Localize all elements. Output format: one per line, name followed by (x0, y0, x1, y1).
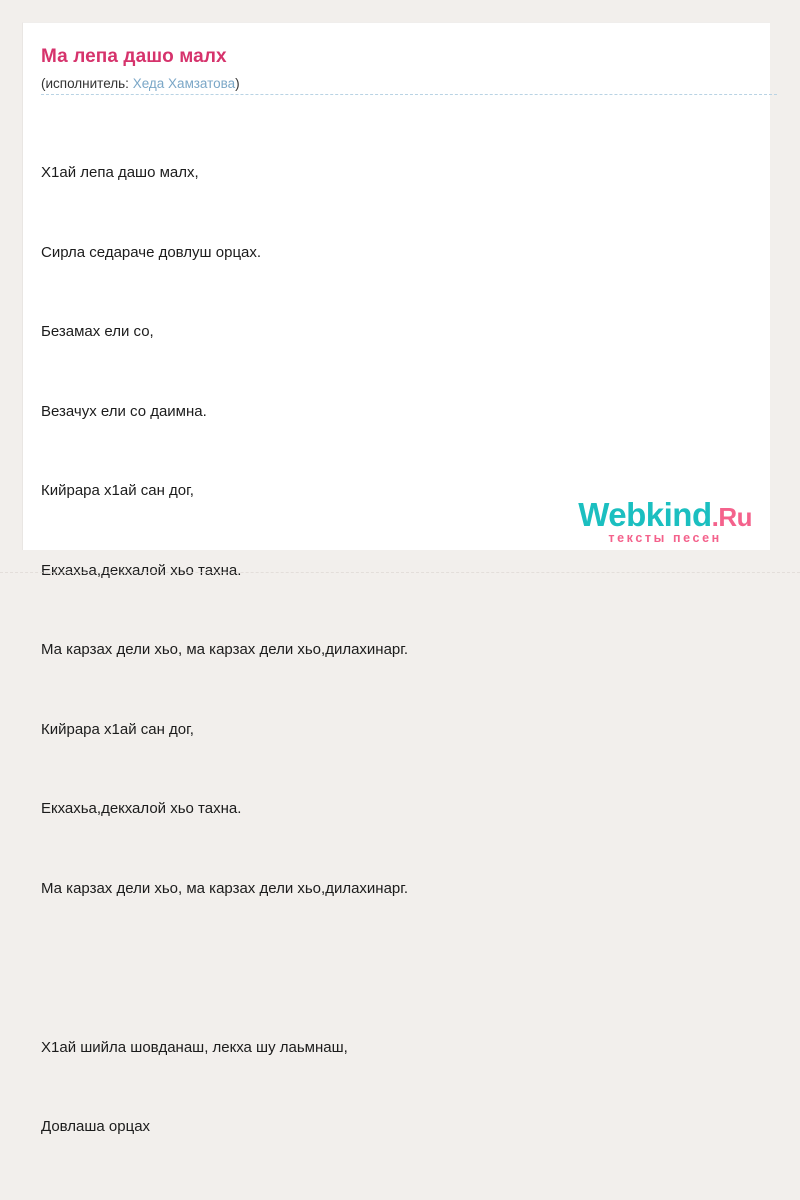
lyrics-content-card: Ма лепа дашо малх (исполнитель: Хеда Хам… (22, 22, 770, 550)
logo-wordmark: Webkind.Ru (578, 498, 752, 531)
lyrics-line-blank (41, 955, 761, 982)
performer-suffix: ) (235, 76, 240, 91)
page-title: Ма лепа дашо малх (41, 45, 770, 69)
lyrics-line: Екхахьа,декхалой хьо тахна. (41, 796, 761, 823)
song-header: Ма лепа дашо малх (исполнитель: Хеда Хам… (23, 23, 770, 92)
lyrics-body: Х1ай лепа дашо малх, Сирла седараче довл… (41, 107, 761, 1200)
lyrics-line: Екхахьа,декхалой хьо тахна. (41, 558, 761, 585)
header-divider (41, 94, 777, 95)
lyrics-line: Тешам бехк би суна сох шеха тешна чу даи… (41, 1194, 761, 1200)
logo-tld-text: .Ru (712, 502, 752, 532)
lyrics-line: Ма карзах дели хьо, ма карзах дели хьо,д… (41, 637, 761, 664)
performer-label: (исполнитель: (41, 76, 129, 91)
lyrics-line: Довлаша орцах (41, 1114, 761, 1141)
logo-name-text: Webkind (578, 496, 711, 533)
webkind-logo[interactable]: Webkind.Ru тексты песен (578, 498, 752, 545)
performer-line: (исполнитель: Хеда Хамзатова) (41, 75, 770, 93)
lyrics-line: Ма карзах дели хьо, ма карзах дели хьо,д… (41, 876, 761, 903)
page-bottom-rule (0, 572, 800, 573)
lyrics-line: Безамах ели со, (41, 319, 761, 346)
lyrics-line: Х1ай шийла шовданаш, лекха шу лаьмнаш, (41, 1035, 761, 1062)
lyrics-line: Везачух ели со даимна. (41, 399, 761, 426)
lyrics-line: Сирла седараче довлуш орцах. (41, 240, 761, 267)
page-background: Ма лепа дашо малх (исполнитель: Хеда Хам… (0, 0, 800, 600)
performer-link[interactable]: Хеда Хамзатова (133, 76, 235, 91)
lyrics-line: Х1ай лепа дашо малх, (41, 160, 761, 187)
lyrics-line: Кийрара х1ай сан дог, (41, 717, 761, 744)
logo-tagline: тексты песен (578, 532, 752, 545)
